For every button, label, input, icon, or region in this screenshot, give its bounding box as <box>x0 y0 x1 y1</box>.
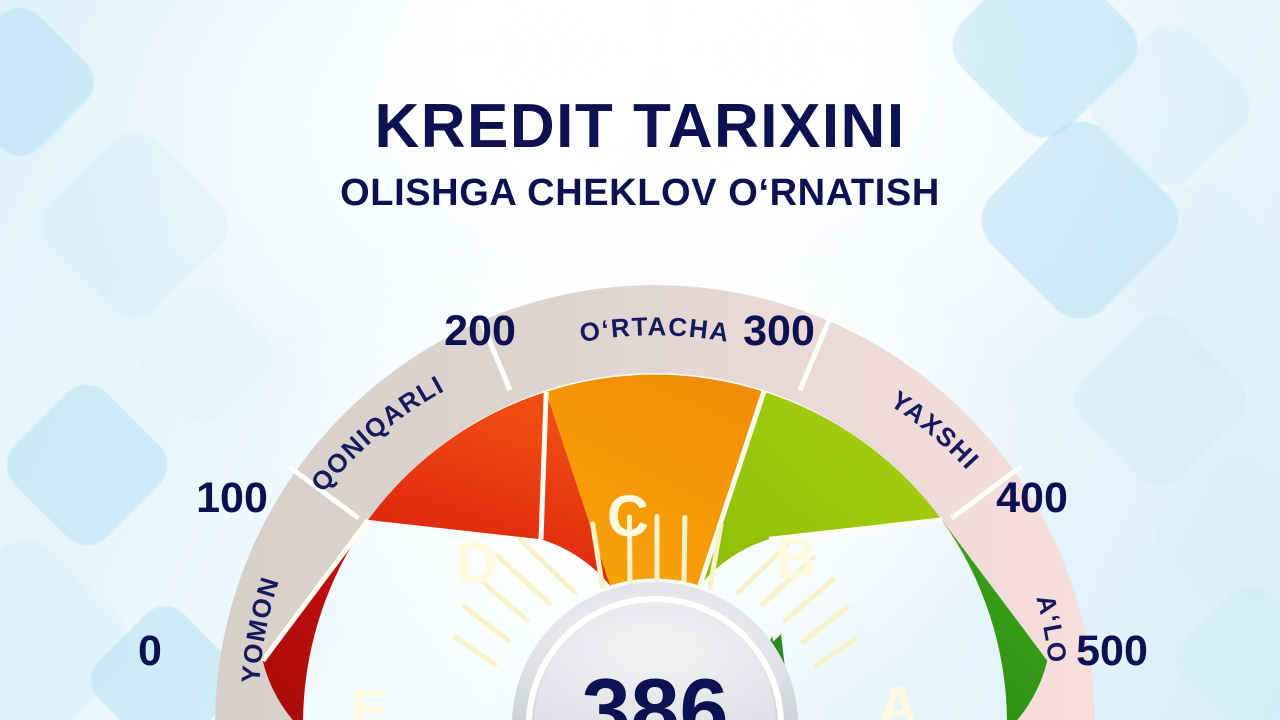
gauge-tick-label-200: 200 <box>444 307 516 355</box>
gauge-grade-letter-B: B <box>775 526 817 591</box>
gauge-tick-label-400: 400 <box>996 474 1068 522</box>
gauge-grade-letter-D: D <box>456 531 498 596</box>
gauge-tick-label-100: 100 <box>196 474 268 522</box>
title-block: KREDIT TARIXINI OLISHGA CHEKLOV O‘RNATIS… <box>0 96 1280 212</box>
gauge-grade-letter-E: E <box>351 678 390 720</box>
gauge-tick-label-500: 500 <box>1076 627 1148 675</box>
gauge-grade-letter-C: C <box>607 484 649 549</box>
gauge-tick-label-300: 300 <box>743 307 815 355</box>
page-subtitle: OLISHGA CHEKLOV O‘RNATISH <box>0 174 1280 212</box>
screen-root: KREDIT TARIXINI OLISHGA CHEKLOV O‘RNATIS… <box>0 0 1280 720</box>
page-title: KREDIT TARIXINI <box>0 96 1280 158</box>
gauge-grade-letter-A: A <box>877 675 919 720</box>
gauge-score-value: 386 <box>582 660 729 720</box>
gauge-tick-label-0: 0 <box>138 627 162 675</box>
